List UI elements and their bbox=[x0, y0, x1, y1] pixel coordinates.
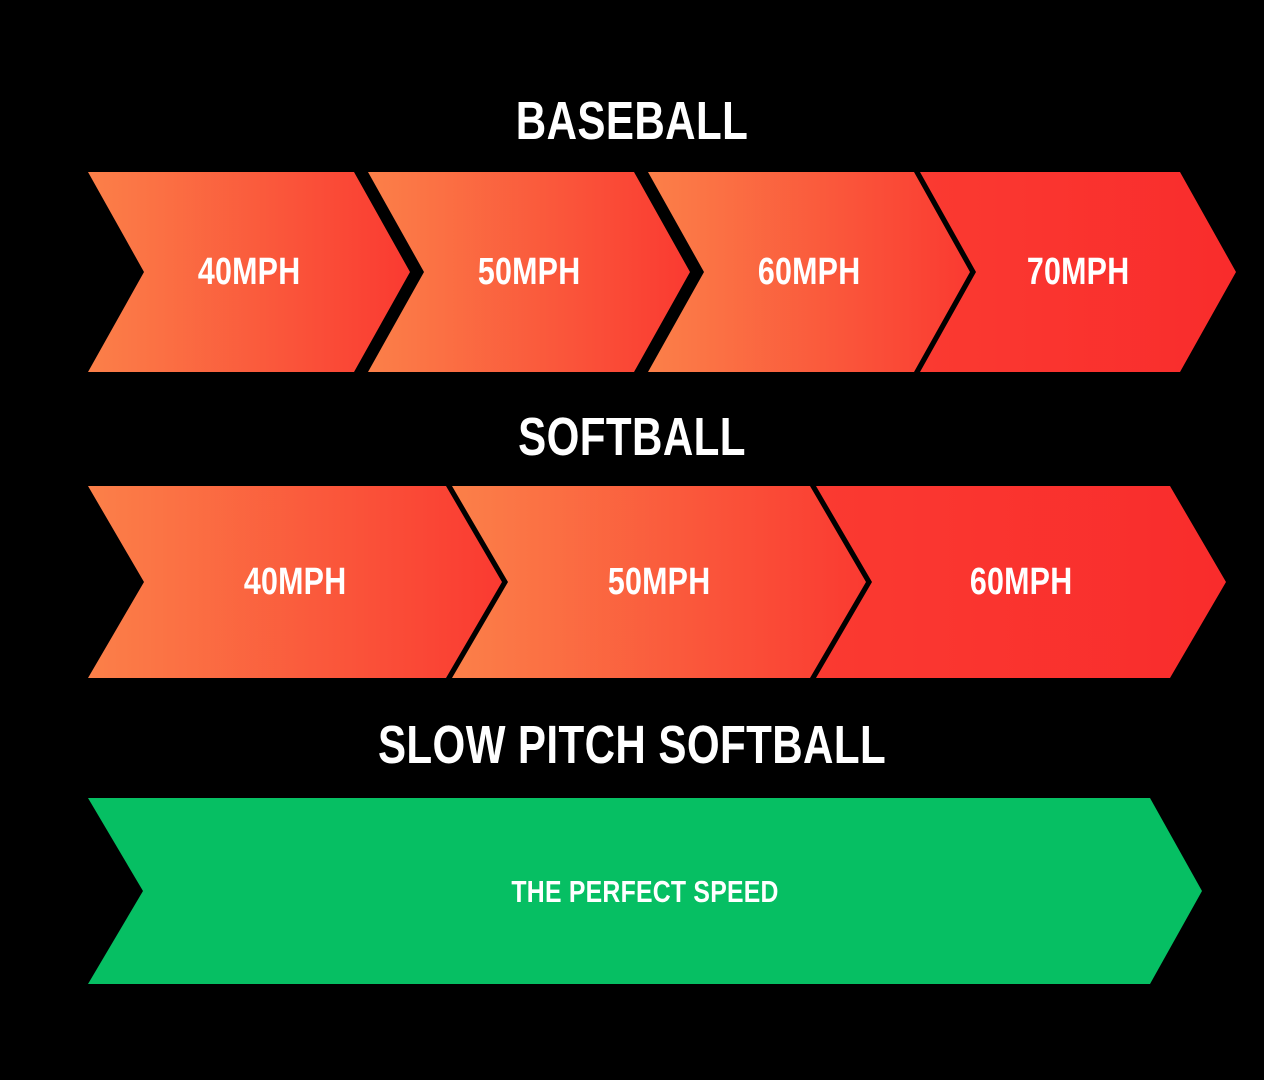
chevron-slowpitch-perfect-speed[interactable]: THE PERFECT SPEED bbox=[88, 798, 1202, 984]
section-title-baseball: BASEBALL bbox=[139, 94, 1125, 148]
chevron-label: 70MPH bbox=[1027, 253, 1130, 291]
chevron-label: 40MPH bbox=[198, 253, 301, 291]
chevron-label: 40MPH bbox=[244, 563, 347, 601]
chevron-softball-50mph[interactable]: 50MPH bbox=[452, 486, 866, 678]
chevron-softball-40mph[interactable]: 40MPH bbox=[88, 486, 502, 678]
section-title-softball: SOFTBALL bbox=[139, 410, 1125, 464]
chevron-baseball-70mph[interactable]: 70MPH bbox=[920, 172, 1236, 372]
chevron-label: 60MPH bbox=[758, 253, 861, 291]
chevron-softball-60mph[interactable]: 60MPH bbox=[816, 486, 1226, 678]
chevron-label: 60MPH bbox=[970, 563, 1073, 601]
chevron-row-softball: 40MPH 50MPH bbox=[0, 486, 1264, 678]
chevron-label: 50MPH bbox=[608, 563, 711, 601]
chevron-baseball-40mph[interactable]: 40MPH bbox=[88, 172, 410, 372]
chevron-baseball-50mph[interactable]: 50MPH bbox=[368, 172, 690, 372]
chevron-label: 50MPH bbox=[478, 253, 581, 291]
chevron-label: THE PERFECT SPEED bbox=[511, 876, 778, 907]
pitch-speed-infographic: BASEBALL 40MPH bbox=[0, 0, 1264, 1080]
section-title-slow-pitch-softball: SLOW PITCH SOFTBALL bbox=[139, 718, 1125, 772]
chevron-row-slow-pitch-softball: THE PERFECT SPEED bbox=[0, 798, 1264, 984]
chevron-row-baseball: 40MPH 50MPH bbox=[0, 172, 1264, 372]
